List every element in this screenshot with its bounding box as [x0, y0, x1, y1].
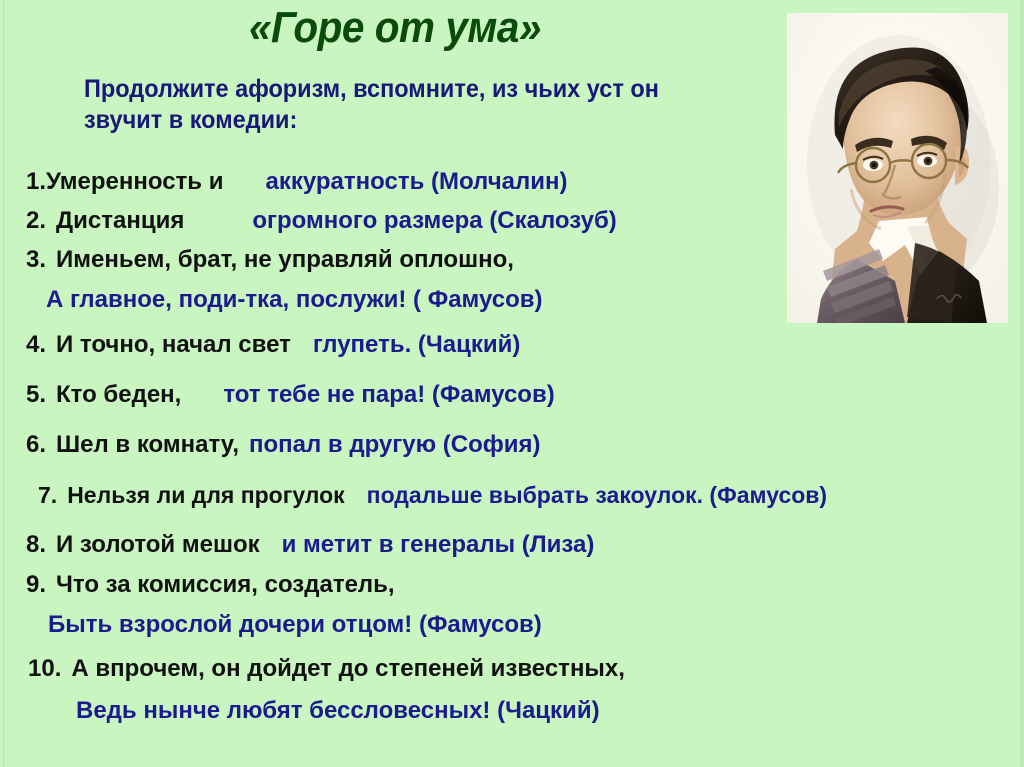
aphorism-item: 9.Что за комиссия, создатель, Быть взрос…	[26, 571, 1024, 639]
aphorism-question: Дистанция	[56, 207, 184, 234]
aphorism-answer: и метит в генералы (Лиза)	[282, 531, 595, 558]
aphorism-item: 7.Нельзя ли для прогулокподальше выбрать…	[38, 481, 1024, 509]
aphorism-answer: глупеть. (Чацкий)	[313, 331, 521, 358]
aphorism-question: И золотой мешок	[56, 531, 260, 558]
aphorism-question: Что за комиссия, создатель,	[56, 571, 395, 598]
aphorism-answer: попал в другую (София)	[249, 431, 541, 458]
aphorism-question: Кто беден,	[56, 381, 181, 408]
aphorism-number: 10.	[28, 655, 61, 682]
aphorism-item: 3.Именьем, брат, не управляй оплошно, А …	[26, 246, 1024, 314]
aphorism-number: 8.	[26, 531, 46, 558]
aphorism-question: И точно, начал свет	[56, 331, 291, 358]
aphorism-item: 8.И золотой мешоки метит в генералы (Лиз…	[26, 531, 1024, 559]
aphorism-question: Умеренность и	[46, 168, 223, 195]
aphorism-number: 6.	[26, 431, 46, 458]
aphorism-number: 1.	[26, 168, 46, 195]
aphorism-question: Именьем, брат, не управляй оплошно,	[56, 246, 514, 273]
aphorism-answer: подальше выбрать закоулок. (Фамусов)	[367, 482, 827, 508]
aphorism-answer: Ведь нынче любят бессловесных! (Чацкий)	[76, 697, 600, 724]
aphorism-item: 1.Умеренность иаккуратность (Молчалин)	[26, 168, 1024, 196]
slide-subtitle: Продолжите афоризм, вспомните, из чьих у…	[84, 74, 686, 136]
slide: «Горе от ума» Продолжите афоризм, вспомн…	[0, 0, 1024, 767]
page-title: «Горе от ума»	[32, 2, 759, 54]
aphorism-answer: тот тебе не пара! (Фамусов)	[223, 381, 554, 408]
aphorism-list: 1.Умеренность иаккуратность (Молчалин) 2…	[0, 158, 1024, 725]
aphorism-number: 2.	[26, 207, 46, 234]
aphorism-question: Нельзя ли для прогулок	[67, 482, 344, 508]
aphorism-number: 5.	[26, 381, 46, 408]
aphorism-number: 7.	[38, 482, 57, 508]
aphorism-answer: Быть взрослой дочери отцом! (Фамусов)	[48, 611, 542, 638]
aphorism-question: Шел в комнату,	[56, 431, 239, 458]
aphorism-item: 6.Шел в комнату,попал в другую (София)	[26, 431, 1024, 459]
aphorism-number: 4.	[26, 331, 46, 358]
aphorism-item: 2.Дистанцияогромного размера (Скалозуб)	[26, 207, 1024, 235]
aphorism-answer: аккуратность (Молчалин)	[265, 168, 567, 195]
aphorism-item: 4.И точно, начал светглупеть. (Чацкий)	[26, 331, 1024, 359]
aphorism-item: 10.А впрочем, он дойдет до степеней изве…	[28, 655, 1024, 725]
aphorism-number: 9.	[26, 571, 46, 598]
aphorism-number: 3.	[26, 246, 46, 273]
aphorism-answer: А главное, поди-тка, послужи! ( Фамусов)	[46, 286, 542, 313]
aphorism-question: А впрочем, он дойдет до степеней известн…	[71, 655, 625, 682]
aphorism-answer: огромного размера (Скалозуб)	[252, 207, 616, 234]
aphorism-item: 5.Кто беден,тот тебе не пара! (Фамусов)	[26, 381, 1024, 409]
